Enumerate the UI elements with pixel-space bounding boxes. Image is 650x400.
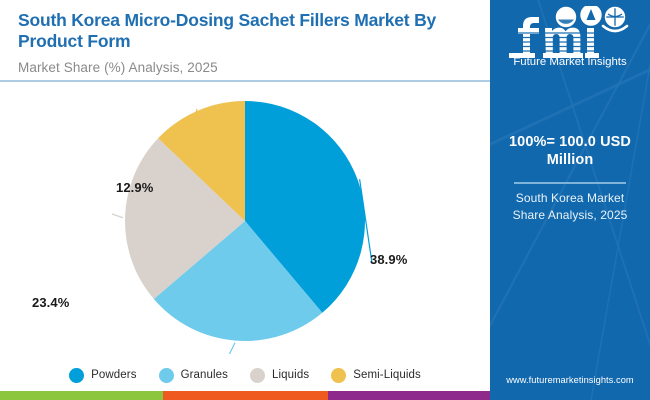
slice-label-liquids: 23.4%: [32, 295, 69, 310]
logo-badge-icons: [557, 6, 628, 31]
bottom-bar-segment-2: [163, 391, 328, 400]
chart-infographic: South Korea Micro-Dosing Sachet Fillers …: [0, 0, 650, 400]
legend-item-semi-liquids[interactable]: Semi-Liquids: [331, 368, 421, 383]
fmi-logo: Future Market Insights: [490, 6, 650, 68]
legend-label: Semi-Liquids: [353, 369, 421, 381]
legend-item-liquids[interactable]: Liquids: [250, 368, 309, 383]
pie-chart-svg: [0, 84, 490, 354]
title-block: South Korea Micro-Dosing Sachet Fillers …: [18, 10, 480, 76]
bottom-bar-segment-3: [328, 391, 490, 400]
page-subtitle: Market Share (%) Analysis, 2025: [18, 60, 480, 76]
legend-item-powders[interactable]: Powders: [69, 368, 136, 383]
legend-label: Granules: [181, 369, 228, 381]
logo-tagline-text: Future Market Insights: [513, 56, 627, 68]
legend-swatch-icon: [331, 368, 346, 383]
bottom-bar-segment-1: [0, 391, 163, 400]
sidebar-caption: South Korea Market Share Analysis, 2025: [500, 190, 640, 225]
page-title: South Korea Micro-Dosing Sachet Fillers …: [18, 10, 480, 53]
chart-legend: PowdersGranulesLiquidsSemi-Liquids: [0, 362, 490, 388]
value-callout: 100%= 100.0 USD Million: [498, 133, 642, 169]
fmi-logo-icon: Future Market Insights: [503, 6, 637, 68]
slice-label-powders: 38.9%: [370, 252, 407, 267]
chart-panel: South Korea Micro-Dosing Sachet Fillers …: [0, 0, 490, 400]
leader-line-granules: [200, 343, 235, 354]
legend-swatch-icon: [69, 368, 84, 383]
legend-swatch-icon: [250, 368, 265, 383]
sidebar-url[interactable]: www.futuremarketinsights.com: [490, 375, 650, 385]
legend-swatch-icon: [159, 368, 174, 383]
legend-label: Powders: [91, 369, 136, 381]
leader-line-liquids: [112, 214, 123, 218]
bottom-color-bar: [0, 391, 490, 400]
pie-chart: 38.9% 24.9% 23.4% 12.9%: [0, 84, 490, 354]
title-divider: [0, 80, 490, 82]
pie-slices: [125, 101, 365, 341]
legend-label: Liquids: [272, 369, 309, 381]
legend-item-granules[interactable]: Granules: [159, 368, 228, 383]
sidebar-divider: [514, 182, 626, 184]
slice-label-semi-liquids: 12.9%: [116, 180, 153, 195]
brand-sidebar: Future Market Insights 100%= 100.0 USD M…: [490, 0, 650, 400]
